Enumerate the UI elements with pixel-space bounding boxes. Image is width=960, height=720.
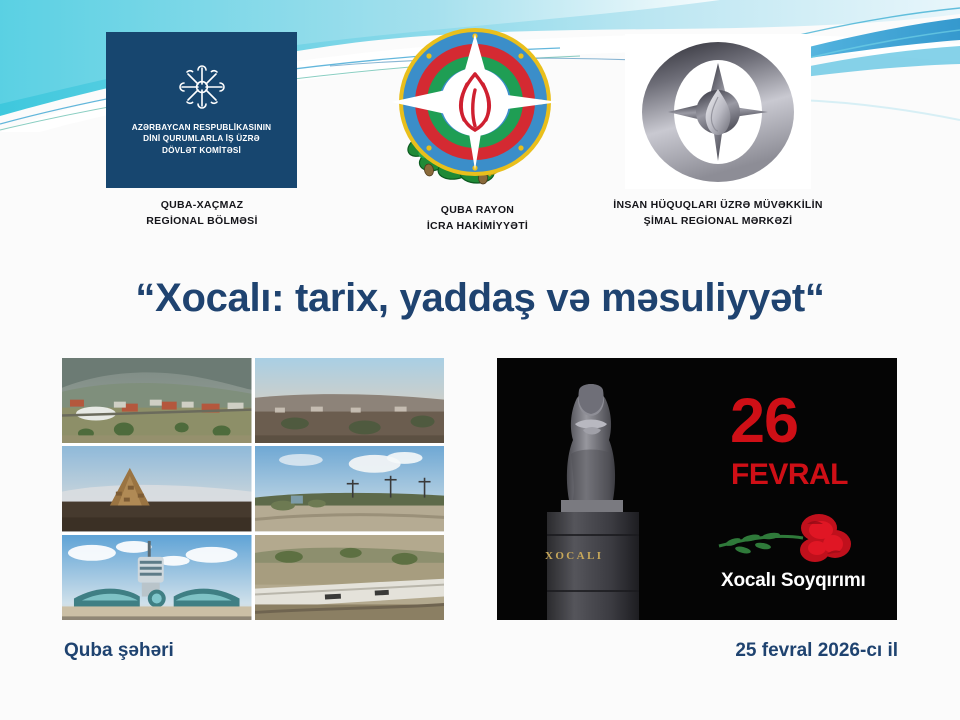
footer-place: Quba şəhəri	[64, 640, 174, 662]
footer-date: 25 fevral 2026-cı il	[735, 640, 898, 662]
religious-affairs-emblem-icon	[178, 64, 226, 115]
khojaly-power-lines-road-photo	[255, 446, 445, 531]
logos-row: AZƏRBAYCAN RESPUBLİKASININ DİNİ QURUMLAR…	[0, 0, 960, 250]
khojaly-runway-barrier-photo	[255, 535, 445, 620]
khojaly-stone-monument-photo	[62, 446, 252, 531]
khojaly-genocide-memorial-photo: 26 FEVRAL Xocalı Soyqırımı XOCALI	[497, 358, 897, 620]
presentation-slide: AZƏRBAYCAN RESPUBLİKASININ DİNİ QURUMLAR…	[0, 0, 960, 720]
memorial-pedestal-label: XOCALI	[545, 550, 603, 562]
ombudsman-emblem-icon	[630, 37, 806, 187]
memorial-subtitle: Xocalı Soyqırımı	[721, 570, 866, 592]
slide-title: “Xocalı: tarix, yaddaş və məsuliyyət“	[0, 276, 960, 321]
ombudsman-logo	[625, 34, 811, 189]
memorial-month-label: FEVRAL	[731, 458, 848, 492]
caption-ombudsman-center: İNSAN HÜQUQLARI ÜZRƏ MÜVƏKKİLİN ŞİMAL RE…	[583, 198, 853, 230]
state-committee-plate-text: AZƏRBAYCAN RESPUBLİKASININ DİNİ QURUMLAR…	[132, 122, 272, 156]
khojaly-plain-panorama-photo	[255, 358, 445, 443]
caption-quba-executive-power: QUBA RAYON İCRA HAKİMİYYƏTİ	[390, 203, 565, 235]
khojaly-photo-collage	[62, 358, 444, 620]
khojaly-airport-terminal-photo	[62, 535, 252, 620]
memorial-day-number: 26	[730, 392, 798, 452]
caption-state-committee: QUBA-XAÇMAZ REGİONAL BÖLMƏSİ	[96, 198, 308, 230]
khojaly-town-aerial-view-photo	[62, 358, 252, 443]
azerbaijan-coat-of-arms-logo	[385, 28, 565, 200]
state-committee-logo: AZƏRBAYCAN RESPUBLİKASININ DİNİ QURUMLAR…	[106, 32, 297, 188]
